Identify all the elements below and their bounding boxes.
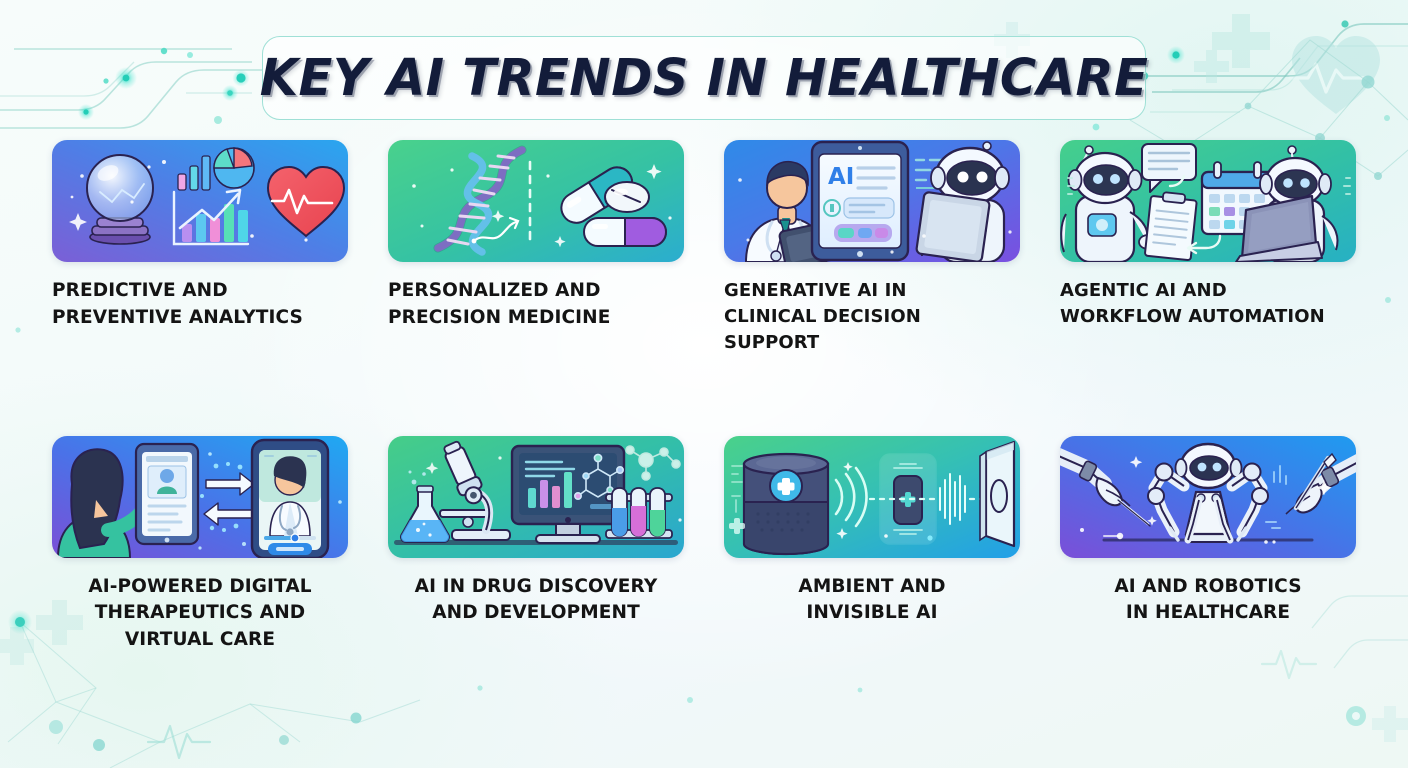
trend-card-art-1	[52, 140, 348, 262]
trend-card-art-3: AI	[724, 140, 1020, 262]
trend-card-art-6	[388, 436, 684, 558]
circuit-line	[1146, 24, 1408, 92]
circuit-line	[0, 49, 262, 128]
tablet-pill-icon	[605, 182, 649, 212]
trend-item-5[interactable]: AI-POWERED DIGITAL THERAPEUTICS AND VIRT…	[32, 356, 368, 654]
trend-item-2[interactable]: PERSONALIZED AND PRECISION MEDICINE	[368, 140, 704, 356]
trend-label-2: PERSONALIZED AND PRECISION MEDICINE	[388, 278, 684, 331]
trend-label-5: AI-POWERED DIGITAL THERAPEUTICS AND VIRT…	[52, 574, 348, 654]
glow-node	[1346, 706, 1366, 726]
trend-item-8[interactable]: AI AND ROBOTICS IN HEALTHCARE	[1040, 356, 1376, 654]
trend-item-1[interactable]: PREDICTIVE AND PREVENTIVE ANALYTICS	[32, 140, 368, 356]
infographic-poster: KEY AI TRENDS IN HEALTHCARE	[0, 0, 1408, 768]
digital-therapeutics-illustration	[52, 436, 348, 558]
trend-item-4[interactable]: AGENTIC AI AND WORKFLOW AUTOMATION	[1040, 140, 1376, 356]
trend-card-art-5	[52, 436, 348, 558]
tablet-device-icon	[916, 192, 990, 262]
tablet-device-icon	[136, 444, 198, 544]
trend-item-3[interactable]: AI	[704, 140, 1040, 356]
test-tubes-icon	[606, 488, 672, 538]
capsule-icon	[584, 218, 666, 246]
heart-pulse-icon	[1290, 36, 1380, 114]
predictive-analytics-illustration	[52, 140, 348, 262]
trend-card-art-7	[724, 436, 1020, 558]
precision-medicine-illustration	[388, 140, 684, 262]
trend-card-art-4	[1060, 140, 1356, 262]
svg-text:AI: AI	[828, 164, 854, 190]
ambient-ai-illustration	[724, 436, 1020, 558]
robotics-illustration	[1060, 436, 1356, 558]
agentic-ai-illustration	[1060, 140, 1356, 262]
trend-label-1: PREDICTIVE AND PREVENTIVE ANALYTICS	[52, 278, 348, 331]
pie-chart-icon	[214, 148, 254, 188]
generative-ai-illustration: AI	[724, 140, 1020, 262]
circuit-line	[0, 62, 252, 96]
trend-item-7[interactable]: AMBIENT AND INVISIBLE AI	[704, 356, 1040, 654]
trend-label-8: AI AND ROBOTICS IN HEALTHCARE	[1060, 574, 1356, 627]
ai-tablet-icon: AI	[812, 142, 908, 260]
trend-label-7: AMBIENT AND INVISIBLE AI	[724, 574, 1020, 627]
trend-card-art-2	[388, 140, 684, 262]
trend-card-art-8	[1060, 436, 1356, 558]
trend-label-6: AI IN DRUG DISCOVERY AND DEVELOPMENT	[388, 574, 684, 627]
ecg-line	[148, 651, 1316, 758]
drug-discovery-illustration	[388, 436, 684, 558]
crystal-ball-icon	[87, 155, 153, 244]
circuit-line	[1150, 46, 1408, 112]
smartphone-doctor-icon	[252, 440, 328, 558]
sensor-panel-icon	[980, 442, 1014, 546]
page-title: KEY AI TRENDS IN HEALTHCARE	[260, 49, 1149, 108]
trend-item-6[interactable]: AI IN DRUG DISCOVERY AND DEVELOPMENT	[368, 356, 704, 654]
trends-grid: PREDICTIVE AND PREVENTIVE ANALYTICS	[0, 140, 1408, 654]
trend-label-3: GENERATIVE AI IN CLINICAL DECISION SUPPO…	[724, 278, 1020, 356]
trend-label-4: AGENTIC AI AND WORKFLOW AUTOMATION	[1060, 278, 1356, 330]
smart-speaker-icon	[744, 454, 828, 554]
title-banner: KEY AI TRENDS IN HEALTHCARE	[262, 36, 1146, 120]
smartphone-icon	[880, 454, 936, 544]
